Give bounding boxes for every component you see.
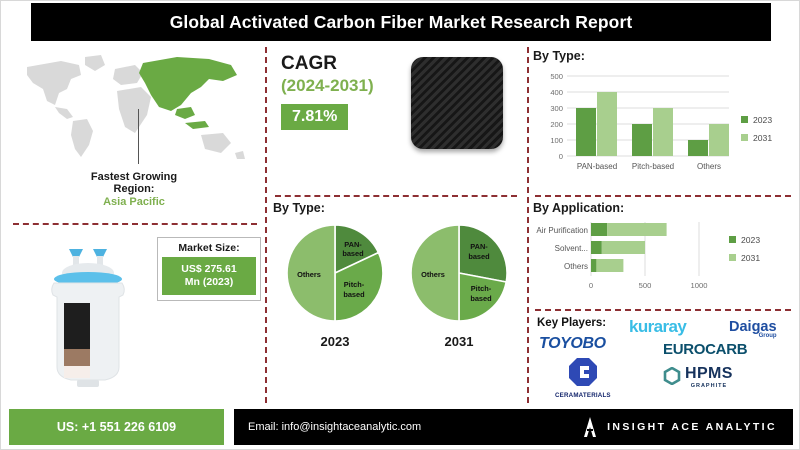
map-leader-line	[138, 109, 139, 164]
by-application-y-labels: Air Purification Solvent... Others	[536, 226, 588, 271]
market-size-panel: Market Size: US$ 275.61 Mn (2023)	[9, 229, 259, 404]
by-application-title: By Application:	[533, 201, 795, 215]
infographic-page: Global Activated Carbon Fiber Market Res…	[0, 0, 800, 450]
legend-label-2023: 2023	[753, 115, 772, 125]
pie-label-pan-based-2031: PAN-	[470, 242, 488, 251]
by-type-y-ticks: 500 400 300 200 100 0	[550, 72, 563, 161]
pie-chart-2023-unit: PAN- based Pitch- based Others 2023	[283, 221, 387, 349]
divider-vertical-left	[265, 47, 267, 403]
market-size-box: Market Size: US$ 275.61 Mn (2023)	[157, 237, 261, 301]
filter-media-brown	[64, 349, 90, 366]
by-application-bar-chart: Air Purification Solvent... Others 0 500…	[533, 218, 791, 306]
svg-text:Others: Others	[564, 262, 588, 271]
app-legend-swatch-2023	[729, 236, 736, 243]
pie-label-pitch-based-2031: Pitch-	[471, 284, 492, 293]
logo-eurocarb: EUROCARB	[663, 341, 747, 358]
filter-base	[77, 380, 99, 387]
region-caption-line2: Region:	[9, 183, 259, 195]
key-players-panel: Key Players: TOYOBO kuraray Daigas Group…	[533, 315, 795, 405]
svg-text:1000: 1000	[691, 281, 708, 290]
filter-media-carbon	[64, 303, 90, 349]
logo-toyobo: TOYOBO	[539, 335, 606, 353]
by-application-legend: 2023 2031	[729, 235, 760, 263]
pie-label-others-2023: Others	[297, 270, 321, 279]
hpms-hexagon-shape	[665, 368, 679, 384]
pie-chart-2031: PAN- based Pitch- based Others	[407, 221, 511, 325]
by-type-x-labels: PAN-based Pitch-based Others	[577, 162, 721, 171]
report-header: Global Activated Carbon Fiber Market Res…	[31, 3, 771, 41]
logo-hpms-name: HPMS	[685, 365, 733, 382]
legend-swatch-2023	[741, 116, 748, 123]
legend-label-2031: 2031	[753, 133, 772, 143]
world-map-svg	[9, 49, 259, 167]
hpms-hexagon-icon	[663, 367, 681, 385]
map-region-new-zealand	[235, 151, 245, 159]
svg-text:Solvent...: Solvent...	[555, 244, 588, 253]
divider-horizontal-mid	[275, 195, 517, 197]
bar-others-2023	[688, 140, 708, 156]
bar-application-others-2031	[596, 259, 623, 272]
bar-solvent-2023	[591, 241, 602, 254]
logo-ceramaterials: CERAMATERIALS	[555, 357, 611, 399]
map-region-southeast-asia-highlight	[175, 107, 195, 119]
footer-brand-name: INSIGHT ACE ANALYTIC	[607, 421, 777, 433]
footer-email: Email: info@insightaceanalytic.com	[248, 421, 421, 433]
legend-swatch-2031	[741, 134, 748, 141]
app-legend-label-2031: 2031	[741, 253, 760, 263]
pie-label-pan-based-2023-b: based	[342, 249, 364, 258]
by-type-bar-title: By Type:	[533, 49, 795, 63]
market-size-title: Market Size:	[162, 242, 256, 254]
by-type-pie-title: By Type:	[273, 201, 521, 215]
by-type-bar-chart: 500 400 300 200 100 0 PAN-based Pitch-ba…	[533, 66, 791, 181]
pie-year-2023: 2023	[283, 334, 387, 349]
footer-brand-block: INSIGHT ACE ANALYTIC	[582, 416, 777, 438]
cagr-panel: CAGR (2024-2031) 7.81%	[273, 49, 521, 189]
bar-pitch-based-2023	[632, 124, 652, 156]
by-type-pie-panel: By Type: PAN- based Pitch- based Others …	[273, 201, 521, 401]
map-region-australia	[201, 133, 231, 153]
filter-nozzle-right	[93, 249, 107, 257]
pie-chart-2023: PAN- based Pitch- based Others	[283, 221, 387, 325]
bar-application-others-2023	[591, 259, 596, 272]
pie-label-pitch-based-2023: Pitch-	[344, 280, 365, 289]
bar-others-2031	[709, 124, 729, 156]
app-legend-swatch-2031	[729, 254, 736, 261]
map-region-europe	[113, 65, 143, 85]
carbon-fiber-swatch-image	[411, 57, 503, 149]
market-size-value: US$ 275.61 Mn (2023)	[162, 257, 256, 295]
divider-horizontal-left	[13, 223, 257, 225]
ceramaterials-mark-icon	[568, 357, 598, 387]
svg-text:0: 0	[559, 152, 563, 161]
logo-daigas: Daigas Group	[729, 319, 777, 339]
map-region-greenland	[85, 55, 105, 71]
map-region-north-america	[27, 61, 81, 105]
water-filter-cartridge-image	[31, 235, 151, 395]
filter-nozzle-left	[69, 249, 83, 257]
market-size-value-line1: US$ 275.61	[164, 263, 254, 276]
cagr-value-badge: 7.81%	[281, 104, 348, 130]
by-type-bar-panel: By Type: 500 400 300 200 100 0	[533, 49, 795, 189]
bar-pan-based-2031	[597, 92, 617, 156]
svg-text:Others: Others	[697, 162, 721, 171]
svg-text:200: 200	[550, 120, 563, 129]
fastest-growing-region-panel: Fastest Growing Region: Asia Pacific	[9, 49, 259, 217]
svg-text:400: 400	[550, 88, 563, 97]
divider-horizontal-right-1	[535, 195, 791, 197]
footer-phone: US: +1 551 226 6109	[57, 420, 176, 434]
map-region-asia-highlight	[139, 57, 237, 111]
svg-text:500: 500	[639, 281, 652, 290]
pie-label-others-2031: Others	[421, 270, 445, 279]
by-application-x-ticks: 0 500 1000	[589, 281, 708, 290]
insight-ace-logo-mark	[584, 417, 596, 437]
footer-phone-block: US: +1 551 226 6109	[9, 409, 224, 445]
footer-info-block: Email: info@insightaceanalytic.com INSIG…	[234, 409, 793, 445]
key-players-title: Key Players:	[537, 317, 606, 329]
pie-label-pan-based-2023: PAN-	[344, 240, 362, 249]
region-name: Asia Pacific	[9, 196, 259, 208]
by-application-panel: By Application: Air Purification Solvent…	[533, 201, 795, 313]
pie-chart-2031-unit: PAN- based Pitch- based Others 2031	[407, 221, 511, 349]
page-title: Global Activated Carbon Fiber Market Res…	[170, 12, 633, 33]
svg-text:Air Purification: Air Purification	[536, 226, 588, 235]
bar-pan-based-2023	[576, 108, 596, 156]
map-region-indonesia-highlight	[185, 121, 209, 129]
region-caption-line1: Fastest Growing	[9, 171, 259, 183]
svg-text:PAN-based: PAN-based	[577, 162, 617, 171]
svg-text:500: 500	[550, 72, 563, 81]
pie-year-2031: 2031	[407, 334, 511, 349]
svg-text:0: 0	[589, 281, 593, 290]
filter-media-light	[64, 366, 90, 378]
map-region-africa	[117, 87, 151, 133]
bar-pitch-based-2031	[653, 108, 673, 156]
bar-air-purification-2023	[591, 223, 607, 236]
svg-text:100: 100	[550, 136, 563, 145]
region-caption: Fastest Growing Region: Asia Pacific	[9, 171, 259, 208]
insight-ace-logo-icon	[582, 416, 598, 438]
pie-label-pitch-based-2023-b: based	[343, 290, 365, 299]
svg-text:300: 300	[550, 104, 563, 113]
logo-ceramaterials-name: CERAMATERIALS	[555, 392, 611, 399]
logo-hpms: HPMS GRAPHITE	[685, 365, 733, 389]
pie-chart-group: PAN- based Pitch- based Others 2023 PAN-	[273, 221, 521, 349]
pie-label-pan-based-2031-b: based	[468, 252, 490, 261]
logo-hpms-sub: GRAPHITE	[685, 383, 733, 389]
pie-label-pitch-based-2031-b: based	[470, 294, 492, 303]
logo-kuraray: kuraray	[629, 317, 686, 337]
world-map	[9, 49, 259, 169]
map-region-central-america	[55, 107, 73, 119]
market-size-value-line2: Mn (2023)	[164, 276, 254, 289]
bar-air-purification-2031	[607, 223, 666, 236]
insight-ace-logo-bar	[587, 429, 593, 431]
svg-text:Pitch-based: Pitch-based	[632, 162, 674, 171]
divider-vertical-right	[527, 47, 529, 403]
map-region-south-america	[71, 119, 93, 157]
app-legend-label-2023: 2023	[741, 235, 760, 245]
bar-solvent-2031	[602, 241, 645, 254]
by-type-legend: 2023 2031	[741, 115, 772, 143]
